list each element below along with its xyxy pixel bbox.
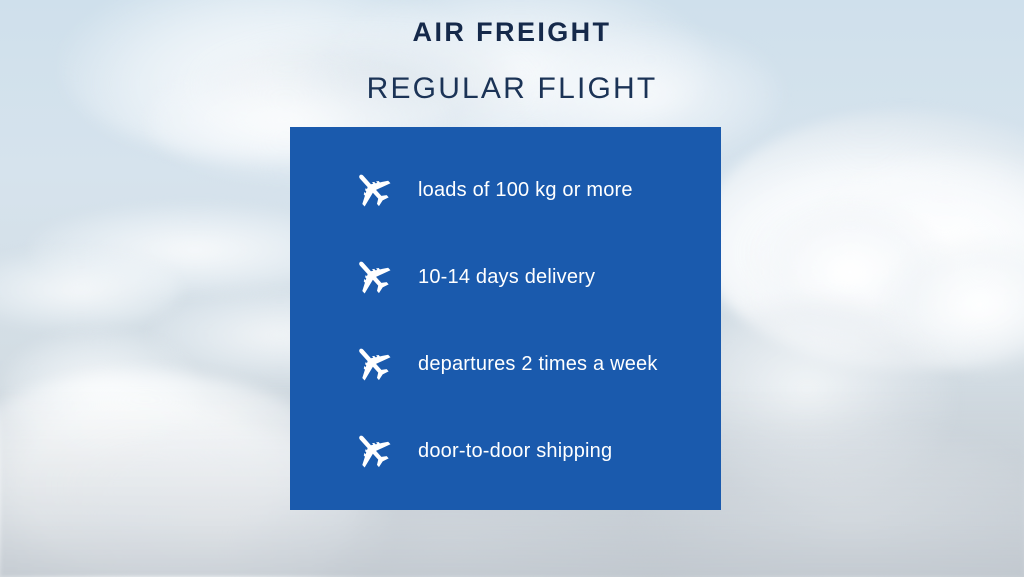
page-subtitle: REGULAR FLIGHT <box>0 72 1024 105</box>
list-item: departures 2 times a week <box>290 341 721 387</box>
cloud-shape <box>745 200 955 350</box>
list-item: loads of 100 kg or more <box>290 167 721 213</box>
list-item: door-to-door shipping <box>290 428 721 474</box>
cloud-shape <box>700 110 1024 370</box>
feature-panel: loads of 100 kg or more 10-14 days deliv… <box>290 127 721 510</box>
page-title: AIR FREIGHT <box>0 18 1024 48</box>
airplane-icon <box>352 341 398 387</box>
airplane-icon <box>352 167 398 213</box>
cloud-shape <box>760 230 990 350</box>
feature-label: 10-14 days delivery <box>418 266 595 289</box>
airplane-icon <box>352 428 398 474</box>
feature-list: loads of 100 kg or more 10-14 days deliv… <box>290 127 721 510</box>
cloud-shape <box>0 250 180 330</box>
poster-canvas: AIR FREIGHT REGULAR FLIGHT loads of 100 … <box>0 0 1024 577</box>
list-item: 10-14 days delivery <box>290 254 721 300</box>
feature-label: door-to-door shipping <box>418 440 612 463</box>
feature-label: loads of 100 kg or more <box>418 179 633 202</box>
airplane-icon <box>352 254 398 300</box>
cloud-shape <box>810 150 1024 350</box>
cloud-shape <box>880 235 1024 375</box>
feature-label: departures 2 times a week <box>418 353 658 376</box>
